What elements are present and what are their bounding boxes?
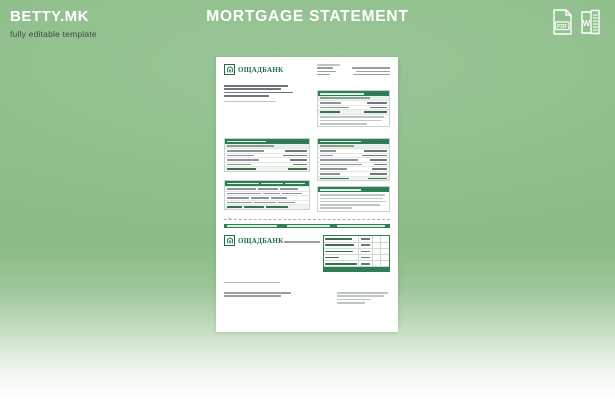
payment-coupon: ОЩАДБАНК: [224, 235, 390, 271]
svg-text:PDF: PDF: [557, 24, 567, 30]
footer-remit-address: [224, 292, 300, 305]
document-preview[interactable]: ОЩАДБАНК: [216, 57, 398, 332]
bank-name: ОЩАДБАНК: [238, 66, 284, 74]
brand-subtitle: fully editable template: [10, 28, 97, 40]
cut-line: ✂: [224, 219, 390, 223]
section-mortgage-activity-statement: [317, 90, 390, 127]
statement-meta-block: [317, 64, 390, 77]
section-amount-of-mortgage: [224, 138, 310, 172]
scissors-icon: ✂: [228, 216, 231, 221]
word-format-icon[interactable]: W: [580, 9, 601, 35]
bank-emblem-icon: [224, 64, 235, 75]
section-important-notice: [317, 186, 390, 212]
pdf-format-icon[interactable]: PDF: [552, 9, 573, 35]
coupon-account-info: [284, 235, 323, 244]
coupon-instruction-bar: [224, 224, 390, 229]
svg-text:W: W: [583, 19, 591, 28]
bank-logo: ОЩАДБАНК: [224, 64, 310, 75]
section-explanation-of-amount-due: [317, 138, 390, 181]
section-transaction-activity: [224, 180, 310, 210]
bank-emblem-icon: [224, 235, 235, 246]
format-icons: PDF W: [552, 9, 601, 35]
footer-bank-address: [337, 292, 390, 305]
section-header: [318, 187, 389, 192]
borrower-address-block: [224, 85, 310, 104]
coupon-bank-logo: ОЩАДБАНК: [224, 235, 284, 246]
coupon-bank-name: ОЩАДБАНК: [238, 237, 284, 245]
coupon-payment-table[interactable]: [323, 235, 390, 271]
coupon-footer-bar: [324, 267, 389, 270]
footer-divider-line: [224, 282, 280, 283]
page-title: MORTGAGE STATEMENT: [0, 8, 615, 26]
